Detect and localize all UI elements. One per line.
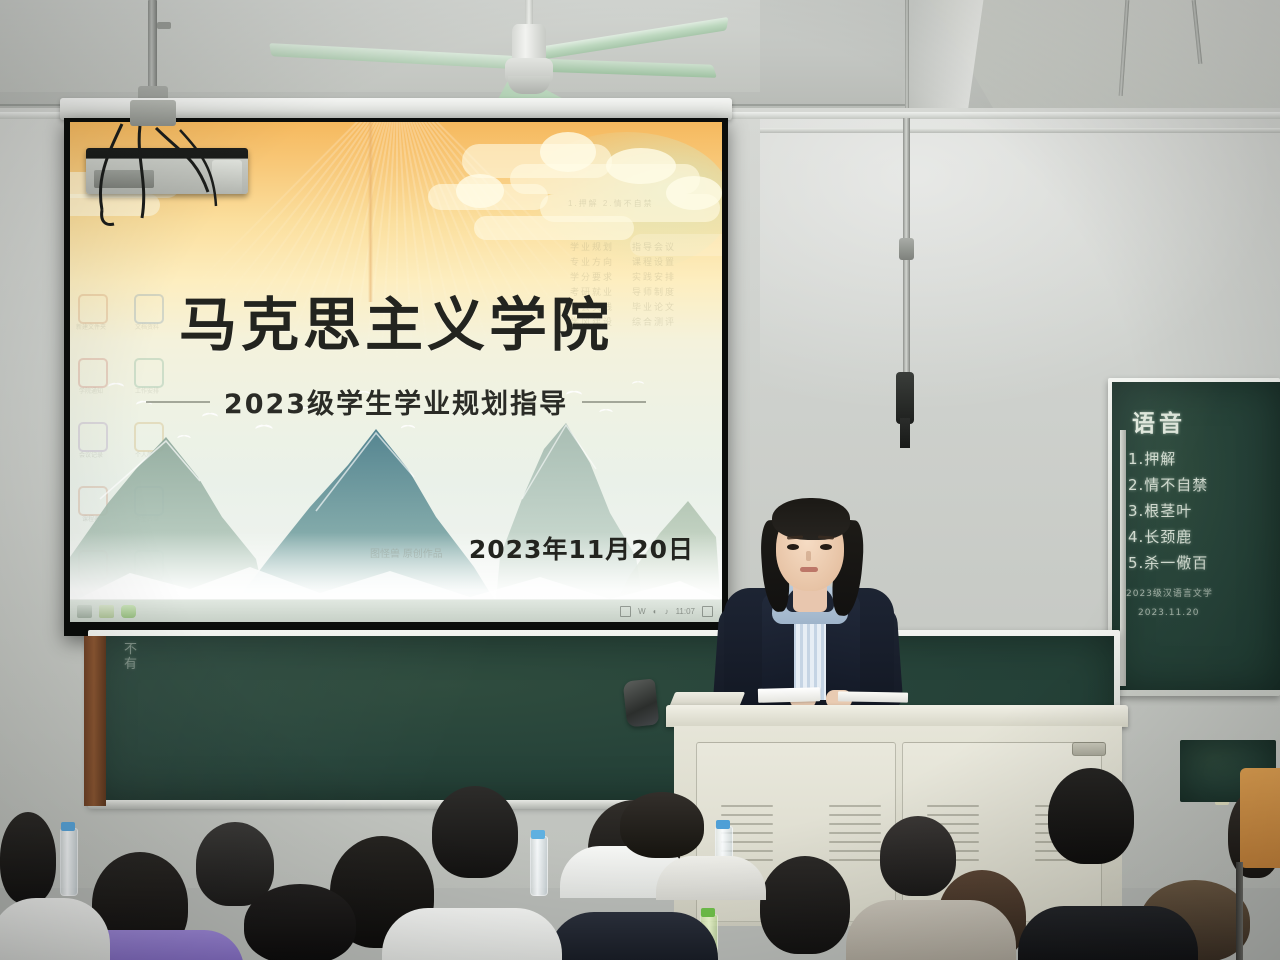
- chair-leg: [1236, 862, 1243, 960]
- blackboard-line-2: 2.情不自禁: [1128, 474, 1208, 495]
- audience-head: [244, 884, 356, 960]
- podium-papers: [758, 687, 820, 703]
- subtitle-rule-left: [146, 401, 210, 403]
- blackboard-line-4: 4.长颈鹿: [1128, 526, 1192, 547]
- podium-vent: [721, 805, 773, 807]
- podium-vent: [829, 832, 881, 834]
- water-bottle: [60, 828, 78, 896]
- podium-vent: [829, 841, 881, 843]
- network-icon[interactable]: ◐: [653, 607, 658, 616]
- wall-highlight: [760, 115, 1280, 415]
- folder-icon[interactable]: [77, 605, 92, 618]
- classroom-photo: 新建文件夹文档资料学院通知工作安排会议记录个人简历课程表学生名单教学计划回收站照…: [0, 0, 1280, 960]
- audience-head: [880, 816, 956, 896]
- speaker-eye-left: [787, 544, 799, 550]
- audience-light-top: [656, 856, 766, 900]
- blackboard-footer-date: 2023.11.20: [1138, 608, 1200, 618]
- door-jamb: [84, 636, 106, 806]
- volume-icon[interactable]: ♪: [665, 607, 669, 616]
- podium-vent: [829, 814, 881, 816]
- audience-dark-jacket: [548, 912, 718, 960]
- blackboard-footer-note: 2023级汉语言文学: [1126, 586, 1213, 599]
- podium-top: [666, 705, 1128, 727]
- ghost-text-header: 1.押解 2.情不自禁: [568, 196, 654, 211]
- bottle-cap-green: [701, 908, 715, 917]
- speaker-mouth: [800, 567, 818, 572]
- podium-papers-secondary: [838, 691, 908, 702]
- blackboard-divider: [1120, 430, 1126, 686]
- audience-white-hoodie: [382, 908, 562, 960]
- blackboard-left-marks: 不 有: [124, 642, 137, 672]
- bottle-cap: [61, 822, 75, 831]
- audience-head: [620, 792, 704, 858]
- microphone-icon: [896, 372, 914, 424]
- podium-vent: [829, 823, 881, 825]
- speaker-nose: [806, 551, 811, 561]
- slide-subtitle: 2023级学生学业规划指导: [224, 382, 568, 421]
- taskbar-clock[interactable]: 11:07: [676, 607, 695, 616]
- microphone-body: [900, 418, 910, 448]
- audience-head: [0, 812, 56, 904]
- bottle-cap: [531, 830, 545, 839]
- projector-cables: [84, 118, 264, 228]
- bird-icon: [255, 422, 273, 431]
- hanger-rod-a: [905, 0, 909, 112]
- rod-bracket: [157, 22, 171, 29]
- blackboard-line-1: 1.押解: [1128, 448, 1176, 469]
- blackboard-heading: 语音: [1132, 404, 1186, 438]
- bird-icon: [401, 422, 415, 429]
- podium-vent: [829, 805, 881, 807]
- podium-vent: [721, 814, 773, 816]
- bird-icon: [177, 433, 191, 440]
- audience-head: [1048, 768, 1134, 864]
- subtitle-rule-right: [582, 401, 646, 403]
- slide-date: 2023年11月20日: [469, 530, 694, 566]
- audience-head: [432, 786, 518, 878]
- blackboard-line-3: 3.根茎叶: [1128, 500, 1192, 521]
- podium-handle[interactable]: [1072, 742, 1106, 756]
- fan-stem: [525, 0, 533, 26]
- wooden-chair[interactable]: [1240, 768, 1280, 868]
- podium-vent: [829, 850, 881, 852]
- hanging-bag: [623, 678, 660, 727]
- taskbar-tray[interactable]: W ◐ ♪ 11:07: [620, 606, 722, 617]
- fan-light-cover: [508, 76, 550, 94]
- wall-rail-upper: [760, 128, 1280, 133]
- audience-head: [760, 856, 850, 954]
- desktop-taskbar[interactable]: W ◐ ♪ 11:07: [70, 599, 722, 622]
- word-icon[interactable]: W: [638, 607, 646, 616]
- slide-subtitle-row: 2023级学生学业规划指导: [70, 382, 722, 421]
- ceiling-slab: [0, 0, 760, 92]
- podium-vent: [927, 814, 979, 816]
- explorer-icon[interactable]: [99, 605, 114, 618]
- water-bottle: [530, 836, 548, 896]
- speaker-eye-right: [820, 544, 832, 550]
- audience-cream-sweater: [846, 900, 1016, 960]
- notification-icon[interactable]: [702, 606, 713, 617]
- slide-watermark: 图怪兽 原创作品: [370, 545, 443, 560]
- housing-brand-label: [660, 104, 700, 116]
- blackboard-line-5: 5.杀一儆百: [1128, 552, 1208, 573]
- input-method-icon[interactable]: [620, 606, 631, 617]
- pole-joint: [899, 238, 914, 260]
- image-fold-seam: [368, 122, 373, 302]
- podium-vent: [927, 805, 979, 807]
- slide-title: 马克思主义学院: [70, 278, 722, 362]
- audience-black-puffer: [1018, 906, 1198, 960]
- speaker-bangs: [772, 498, 850, 540]
- ink-wash-mountains: [70, 407, 722, 622]
- browser-icon[interactable]: [121, 605, 136, 618]
- podium-vent: [829, 859, 881, 861]
- bottle-cap: [716, 820, 730, 829]
